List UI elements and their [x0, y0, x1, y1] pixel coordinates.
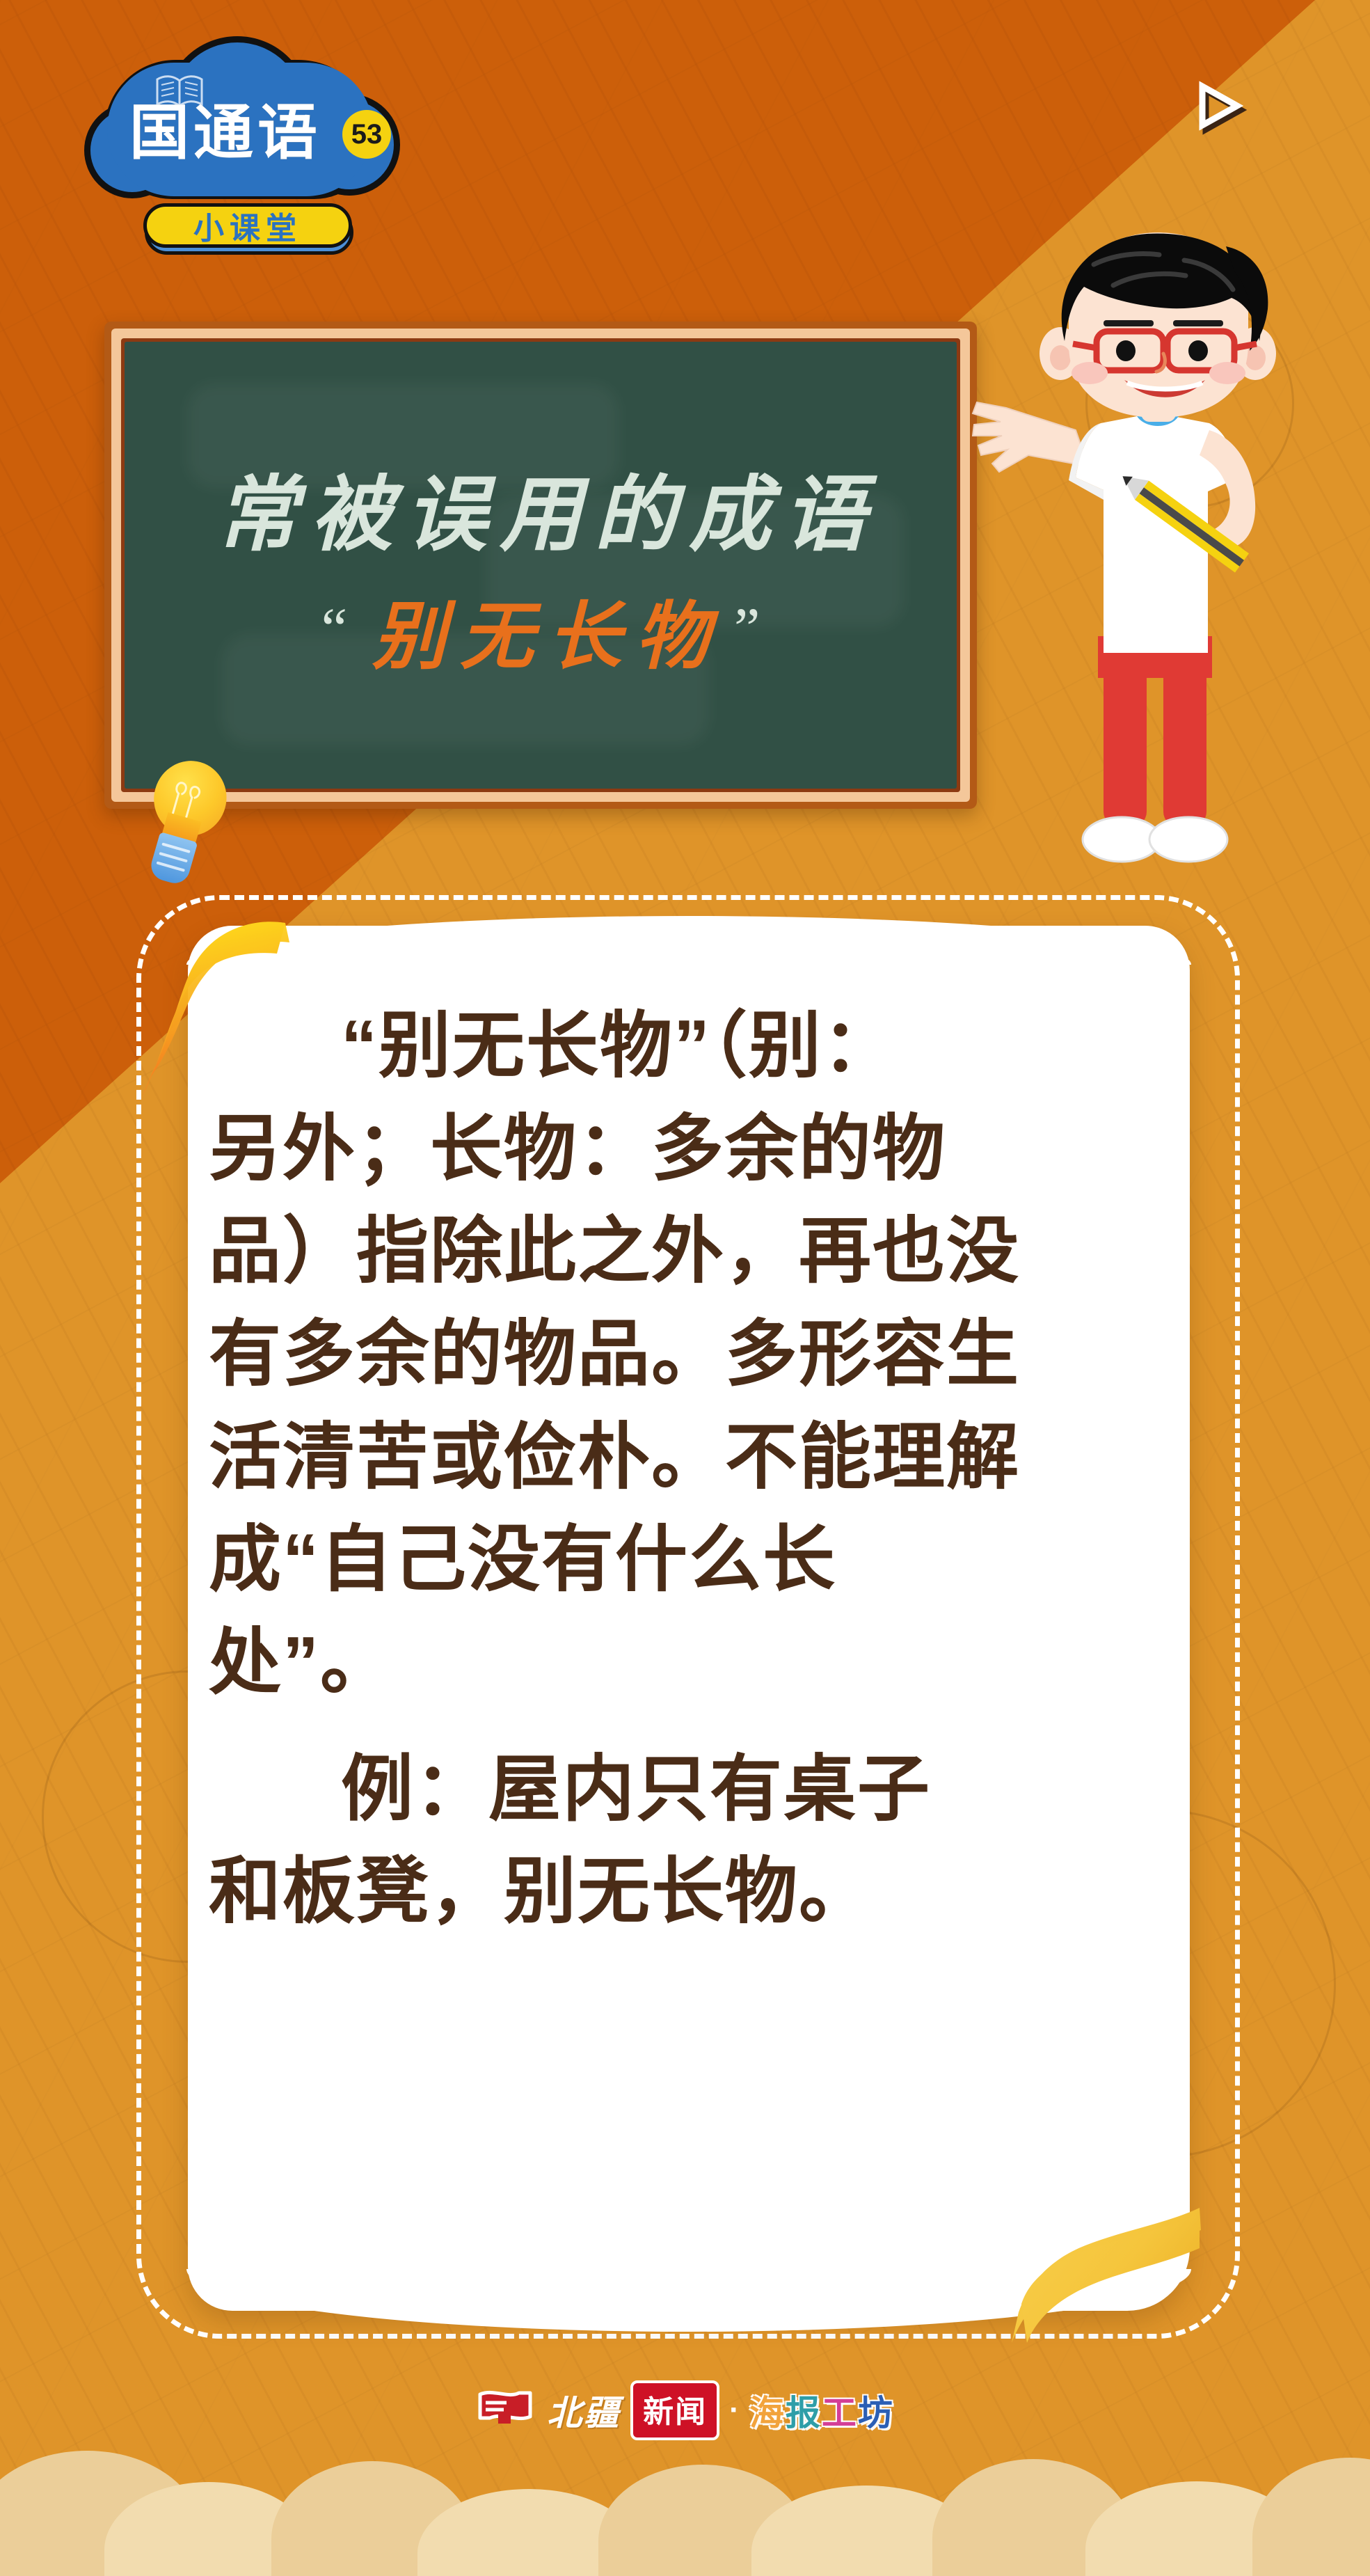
- body-line-1: “别无长物”（别：: [209, 995, 1176, 1098]
- body-line-4: 有多余的物品。多形容生: [209, 1304, 1176, 1407]
- brand-logo[interactable]: 国通语 53 小课堂: [97, 60, 390, 255]
- red-flag-icon: [476, 2389, 537, 2432]
- play-triangle-icon: [1195, 78, 1241, 129]
- example-line-2: 和板凳，别无长物。: [209, 1841, 1176, 1944]
- quote-close: ”: [734, 612, 760, 647]
- workshop-char-3: 工: [822, 2385, 858, 2435]
- workshop-char-2: 报: [786, 2385, 822, 2435]
- body-line-7: 处”。: [209, 1612, 1176, 1715]
- body-line-5: 活清苦或俭朴。不能理解: [209, 1407, 1176, 1510]
- card-body-text: “别无长物”（别： 另外；长物：多余的物 品）指除此之外，再也没 有多余的物品。…: [209, 995, 1176, 1944]
- blackboard-idiom: 别无长物: [358, 576, 723, 683]
- footer-brand-name: 北疆: [547, 2385, 621, 2435]
- blackboard-bevel-inner: 常被误用的成语 “ 别无长物 ”: [121, 338, 960, 792]
- blackboard-subtitle-row: “ 别无长物 ”: [321, 576, 760, 683]
- workshop-char-4: 坊: [858, 2385, 894, 2435]
- footer-workshop-name: 海 报 工 坊: [749, 2385, 894, 2435]
- logo-title: 国通语: [129, 103, 321, 163]
- body-line-3: 品）指除此之外，再也没: [209, 1201, 1176, 1304]
- bulb-base: [148, 832, 198, 887]
- blackboard-surface: 常被误用的成语 “ 别无长物 ”: [125, 342, 957, 789]
- footer-news-badge: 新闻: [630, 2380, 719, 2440]
- logo-episode-badge: 53: [342, 110, 391, 159]
- example-line-1: 例：屋内只有桌子: [209, 1739, 1176, 1842]
- boy-student-illustration: [964, 221, 1333, 890]
- workshop-char-1: 海: [749, 2385, 786, 2435]
- body-line-2: 另外；长物：多余的物: [209, 1098, 1176, 1201]
- blackboard-title: 常被误用的成语: [203, 448, 878, 567]
- ribbon-bottom-right: [994, 2206, 1202, 2387]
- body-line-6: 成“自己没有什么长: [209, 1509, 1176, 1612]
- blackboard: 常被误用的成语 “ 别无长物 ”: [104, 322, 977, 809]
- blackboard-bevel-outer: 常被误用的成语 “ 别无长物 ”: [111, 329, 970, 802]
- quote-open: “: [321, 612, 347, 647]
- footer-brand-bar[interactable]: 北疆 新闻 · 海 报 工 坊: [0, 2380, 1370, 2440]
- bottom-scallop-decoration: [0, 2444, 1370, 2576]
- poster-root: 国通语 53 小课堂 常被误用的成语 “ 别无长物 ”: [0, 0, 1370, 2576]
- logo-subtitle: 小课堂: [143, 203, 352, 248]
- footer-separator: ·: [729, 2393, 740, 2428]
